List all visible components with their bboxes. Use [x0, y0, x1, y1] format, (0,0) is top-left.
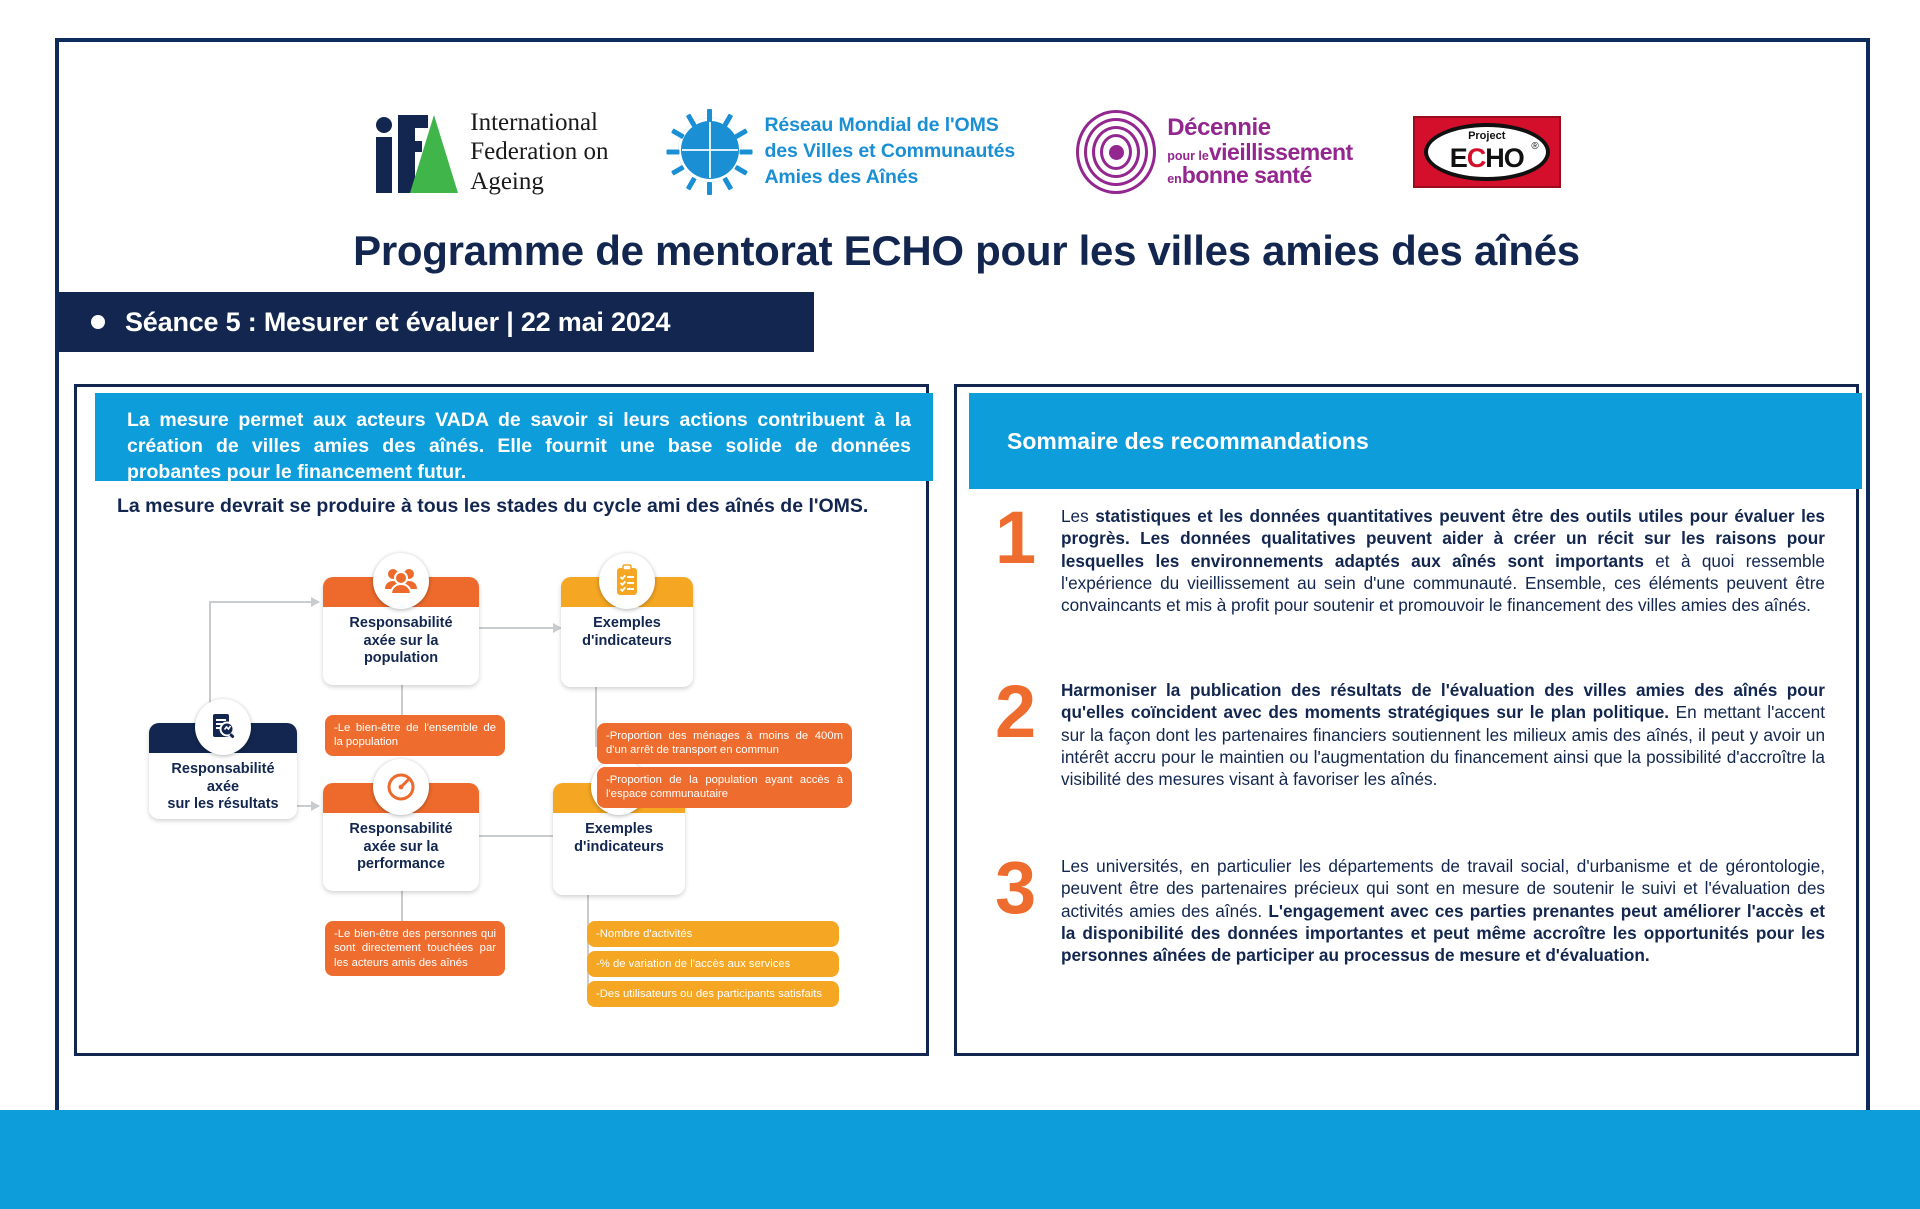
decade-logo-text: Décennie pour levieillissement enbonne s… — [1167, 116, 1353, 187]
connector-arrow-to-population — [209, 601, 319, 603]
session-label: Séance 5 : Mesurer et évaluer | 22 mai 2… — [125, 307, 670, 338]
tag-indicator-service-access: -% de variation de l'accès aux services — [587, 951, 839, 977]
ifa-mark-icon — [372, 111, 458, 193]
ifa-logo: International Federation on Ageing — [372, 108, 608, 197]
who-logo-text: Réseau Mondial de l'OMS des Villes et Co… — [764, 113, 1015, 190]
echo-project-label: Project — [1428, 130, 1546, 142]
tag-indicator-activity-count: -Nombre d'activités — [587, 921, 839, 947]
recommendation-text: Les universités, en particulier les dépa… — [1061, 855, 1825, 967]
who-globe-icon — [668, 110, 752, 194]
project-echo-logo: Project ECHO ® — [1413, 116, 1561, 188]
measurement-subtitle: La mesure devrait se produire à tous les… — [117, 495, 917, 518]
bullet-icon — [91, 315, 105, 329]
connector-arrow-performance-to-indicators — [479, 835, 561, 837]
recommendation-number: 2 — [995, 679, 1053, 791]
node-performance-accountability[interactable]: Responsabilitéaxée sur laperformance — [323, 783, 479, 891]
recommendation-item-3: 3 Les universités, en particulier les dé… — [995, 855, 1825, 967]
decade-small-2: en — [1167, 172, 1182, 186]
ifa-line-2: Federation on — [470, 137, 608, 167]
footer-band — [0, 1110, 1920, 1209]
node-results-label: Responsabilité axéesur les résultats — [155, 761, 291, 814]
who-network-logo: Réseau Mondial de l'OMS des Villes et Co… — [668, 110, 1015, 194]
tag-indicator-satisfaction: -Des utilisateurs ou des participants sa… — [587, 981, 839, 1007]
ifa-line-3: Ageing — [470, 167, 608, 197]
node-population-accountability[interactable]: Responsabilitéaxée sur lapopulation — [323, 577, 479, 685]
measurement-highlight: La mesure permet aux acteurs VADA de sav… — [95, 393, 933, 481]
slide-frame: International Federation on Ageing — [55, 38, 1870, 1128]
recommendation-text: Les statistiques et les données quantita… — [1061, 505, 1825, 617]
connector-arrow-population-to-indicators — [479, 627, 561, 629]
node-performance-label: Responsabilitéaxée sur laperformance — [329, 821, 473, 874]
logo-row: International Federation on Ageing — [59, 97, 1874, 207]
ifa-line-1: International — [470, 108, 608, 138]
echo-letter-e: E — [1450, 143, 1467, 173]
checklist-icon — [599, 553, 655, 609]
ifa-logo-text: International Federation on Ageing — [470, 108, 608, 197]
echo-wordmark: ECHO — [1450, 143, 1524, 174]
who-line-2: des Villes et Communautés — [764, 139, 1015, 165]
decade-rings-icon — [1075, 109, 1157, 195]
node-results-accountability[interactable]: Responsabilité axéesur les résultats — [149, 723, 297, 819]
right-panel: Sommaire des recommandations 1 Les stati… — [954, 384, 1859, 1056]
decade-healthy-ageing-logo: Décennie pour levieillissement enbonne s… — [1075, 109, 1353, 195]
recommendation-item-2: 2 Harmoniser la publication des résultat… — [995, 679, 1825, 791]
accountability-flow-diagram: Responsabilité axéesur les résultats Res… — [87, 527, 927, 1047]
echo-registered-mark: ® — [1531, 141, 1538, 152]
echo-letters-ho: HO — [1485, 143, 1524, 173]
recommendation-number: 3 — [995, 855, 1053, 967]
decade-line-2: vieillissement — [1209, 139, 1353, 165]
connector-performance-down — [401, 891, 403, 921]
page-title: Programme de mentorat ECHO pour les vill… — [59, 227, 1874, 275]
who-line-3: Amies des Aînés — [764, 165, 1015, 191]
tag-indicator-community-space: -Proportion de la population ayant accès… — [597, 767, 852, 808]
decade-line-1: Décennie — [1167, 116, 1353, 140]
echo-badge-icon: Project ECHO ® — [1413, 116, 1561, 188]
recommendation-number: 1 — [995, 505, 1053, 617]
people-group-icon — [373, 553, 429, 609]
node-indicators-top-label: Exemplesd'indicateurs — [567, 615, 687, 650]
speed-gauge-icon — [373, 759, 429, 815]
node-indicators-top[interactable]: Exemplesd'indicateurs — [561, 577, 693, 687]
tag-indicator-transport: -Proportion des ménages à moins de 400m … — [597, 723, 852, 764]
node-population-label: Responsabilitéaxée sur lapopulation — [329, 615, 473, 668]
report-search-icon — [195, 699, 251, 755]
recommendation-text: Harmoniser la publication des résultats … — [1061, 679, 1825, 791]
node-indicators-bottom-label: Exemplesd'indicateurs — [559, 821, 679, 856]
decade-line-3: bonne santé — [1182, 162, 1312, 188]
echo-letter-c: C — [1467, 143, 1486, 173]
tag-population-wellbeing: -Le bien-être de l'ensemble de la popula… — [325, 715, 505, 756]
recommendations-header: Sommaire des recommandations — [969, 393, 1862, 489]
session-banner: Séance 5 : Mesurer et évaluer | 22 mai 2… — [59, 292, 814, 352]
tag-performance-wellbeing: -Le bien-être des personnes qui sont dir… — [325, 921, 505, 976]
recommendation-item-1: 1 Les statistiques et les données quanti… — [995, 505, 1825, 617]
left-panel: La mesure permet aux acteurs VADA de sav… — [74, 384, 929, 1056]
who-line-1: Réseau Mondial de l'OMS — [764, 113, 1015, 139]
decade-small-1: pour le — [1167, 149, 1209, 163]
connector-population-down — [401, 685, 403, 715]
